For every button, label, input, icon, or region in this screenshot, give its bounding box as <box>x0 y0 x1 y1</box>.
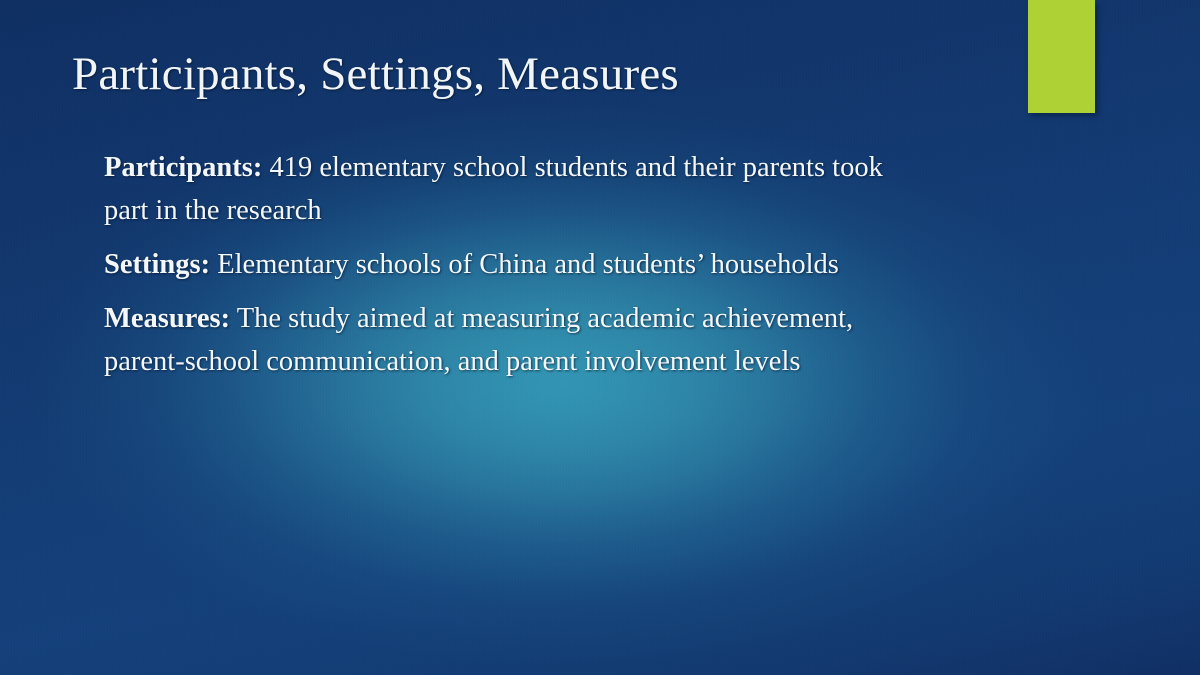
paragraph-participants-lead: Participants: <box>104 152 262 183</box>
paragraph-measures: Measures: The study aimed at measuring a… <box>104 297 904 383</box>
paragraph-settings-lead: Settings: <box>104 249 210 280</box>
presentation-slide: Participants, Settings, Measures Partici… <box>0 0 1200 675</box>
paragraph-settings-text: Elementary schools of China and students… <box>210 249 839 280</box>
green-accent-rectangle <box>1028 0 1095 113</box>
slide-body: Participants: 419 elementary school stud… <box>104 146 904 383</box>
page-title: Participants, Settings, Measures <box>72 48 972 101</box>
paragraph-measures-lead: Measures: <box>104 303 230 334</box>
paragraph-participants: Participants: 419 elementary school stud… <box>104 146 904 232</box>
paragraph-settings: Settings: Elementary schools of China an… <box>104 243 904 286</box>
